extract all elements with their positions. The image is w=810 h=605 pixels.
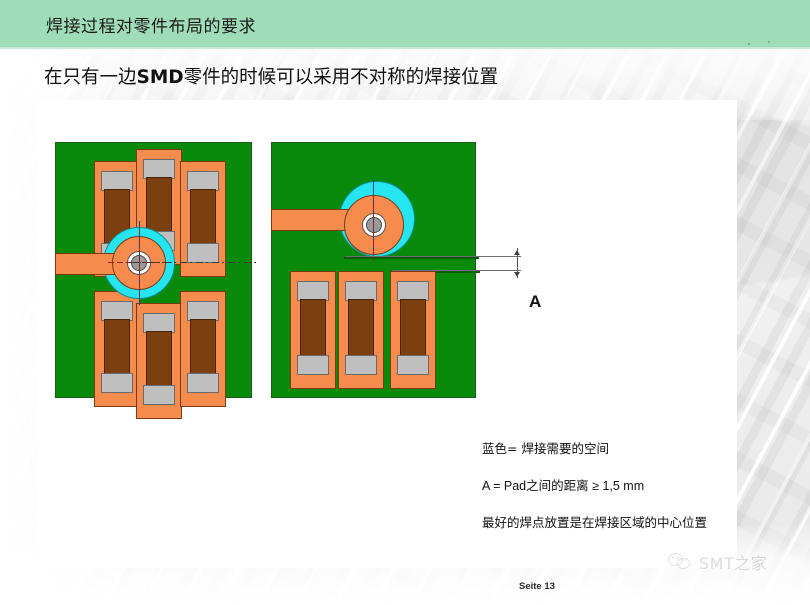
header-speckle-dots — [744, 38, 784, 48]
smd-body — [300, 299, 326, 357]
smd-termination — [187, 243, 219, 263]
smd-body — [190, 189, 216, 245]
watermark-label: SMT之家 — [699, 550, 767, 574]
smd-body — [146, 331, 172, 387]
subtitle-part-bold: SMD — [137, 67, 184, 88]
smd-termination — [101, 171, 133, 191]
smd-termination — [101, 301, 133, 321]
smd-body — [400, 299, 426, 357]
pcb-board-left — [55, 142, 252, 398]
smd-body — [348, 299, 374, 357]
centerline-extension-left-board — [132, 262, 257, 263]
subtitle-part-before: 在只有一边 — [44, 67, 137, 88]
dimension-extension-line-bottom — [392, 270, 521, 271]
smd-termination — [297, 281, 329, 301]
smd-termination — [345, 281, 377, 301]
smd-body — [190, 319, 216, 375]
subtitle: 在只有一边SMD零件的时候可以采用不对称的焊接位置 — [44, 63, 498, 89]
dimension-arrow-down-icon — [514, 272, 520, 277]
smd-termination — [187, 171, 219, 191]
page-title: 焊接过程对零件布局的要求 — [46, 12, 256, 37]
keepout-bottom-reference-line — [344, 257, 479, 259]
smd-termination — [143, 159, 175, 179]
smd-termination — [143, 313, 175, 333]
legend-block: 蓝色= 焊接需要的空间 A = Pad之间的距离 ≥ 1,5 mm 最好的焊点放… — [482, 438, 772, 549]
wechat-icon — [668, 552, 694, 572]
dimension-label-a: A — [529, 292, 541, 312]
legend-line-keepout: 蓝色= 焊接需要的空间 — [482, 438, 772, 457]
smd-termination — [297, 355, 329, 375]
centerline-vertical-red — [373, 195, 374, 261]
centerline-vertical-red — [139, 229, 140, 297]
slide-root: 焊接过程对零件布局的要求 在只有一边SMD零件的时候可以采用不对称的焊接位置 — [0, 0, 810, 605]
subtitle-part-after: 零件的时候可以采用不对称的焊接位置 — [184, 67, 499, 88]
smd-body — [104, 319, 130, 375]
legend-line-dimension: A = Pad之间的距离 ≥ 1,5 mm — [482, 475, 772, 494]
smd-termination — [397, 355, 429, 375]
smd-termination — [187, 301, 219, 321]
dimension-arrow-up-icon — [514, 250, 520, 255]
smd-termination — [345, 355, 377, 375]
smd-termination — [101, 373, 133, 393]
legend-line-placement: 最好的焊点放置是在焊接区域的中心位置 — [482, 512, 772, 531]
drill-hole — [366, 217, 382, 233]
smd-termination — [143, 385, 175, 405]
smd-termination — [187, 373, 219, 393]
dimension-extension-line-top — [345, 256, 521, 257]
smd-body — [146, 177, 172, 233]
smd-termination — [397, 281, 429, 301]
header-band-underline — [0, 47, 810, 49]
watermark: SMT之家 — [668, 550, 767, 574]
page-number: Seite 13 — [519, 581, 555, 592]
